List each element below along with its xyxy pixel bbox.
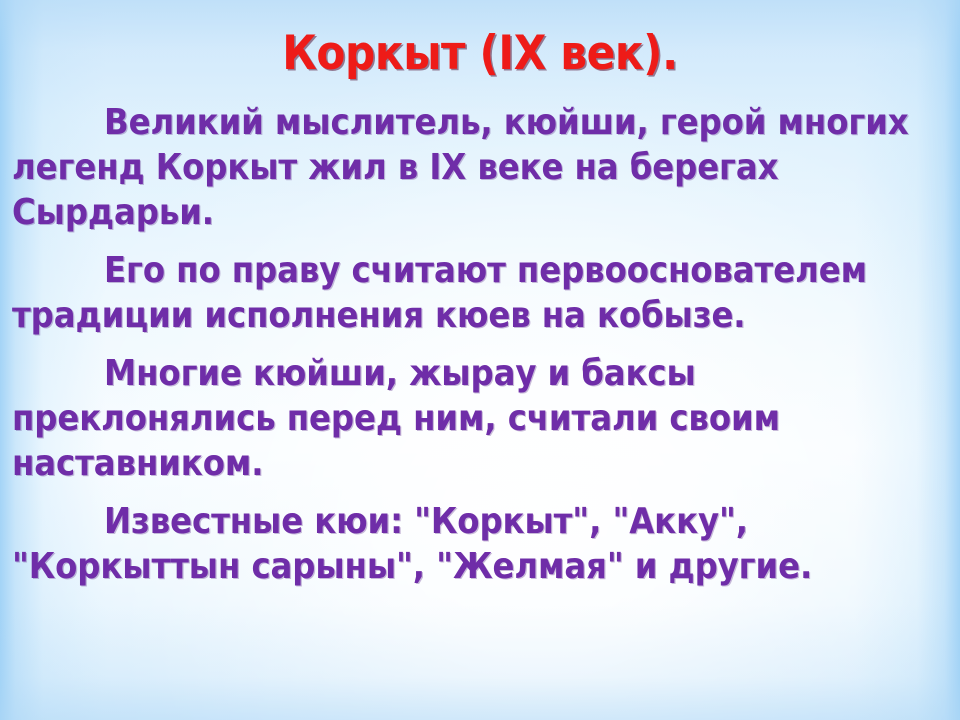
body-paragraph-4: Известные кюи: "Коркыт", "Акку", "Коркыт… xyxy=(12,499,948,589)
body-paragraph-2: Его по праву считают первооснователем тр… xyxy=(12,248,948,338)
body-paragraph-3: Многие кюйши, жырау и баксы преклонялись… xyxy=(12,351,948,486)
slide-body-text: Великий мыслитель, кюйши, герой многих л… xyxy=(12,100,948,589)
body-paragraph-1: Великий мыслитель, кюйши, герой многих л… xyxy=(12,100,948,235)
presentation-slide: Коркыт (IX век). Великий мыслитель, кюйш… xyxy=(0,0,960,720)
slide-title: Коркыт (IX век). xyxy=(0,26,960,82)
slide-content: Коркыт (IX век). Великий мыслитель, кюйш… xyxy=(0,0,960,720)
